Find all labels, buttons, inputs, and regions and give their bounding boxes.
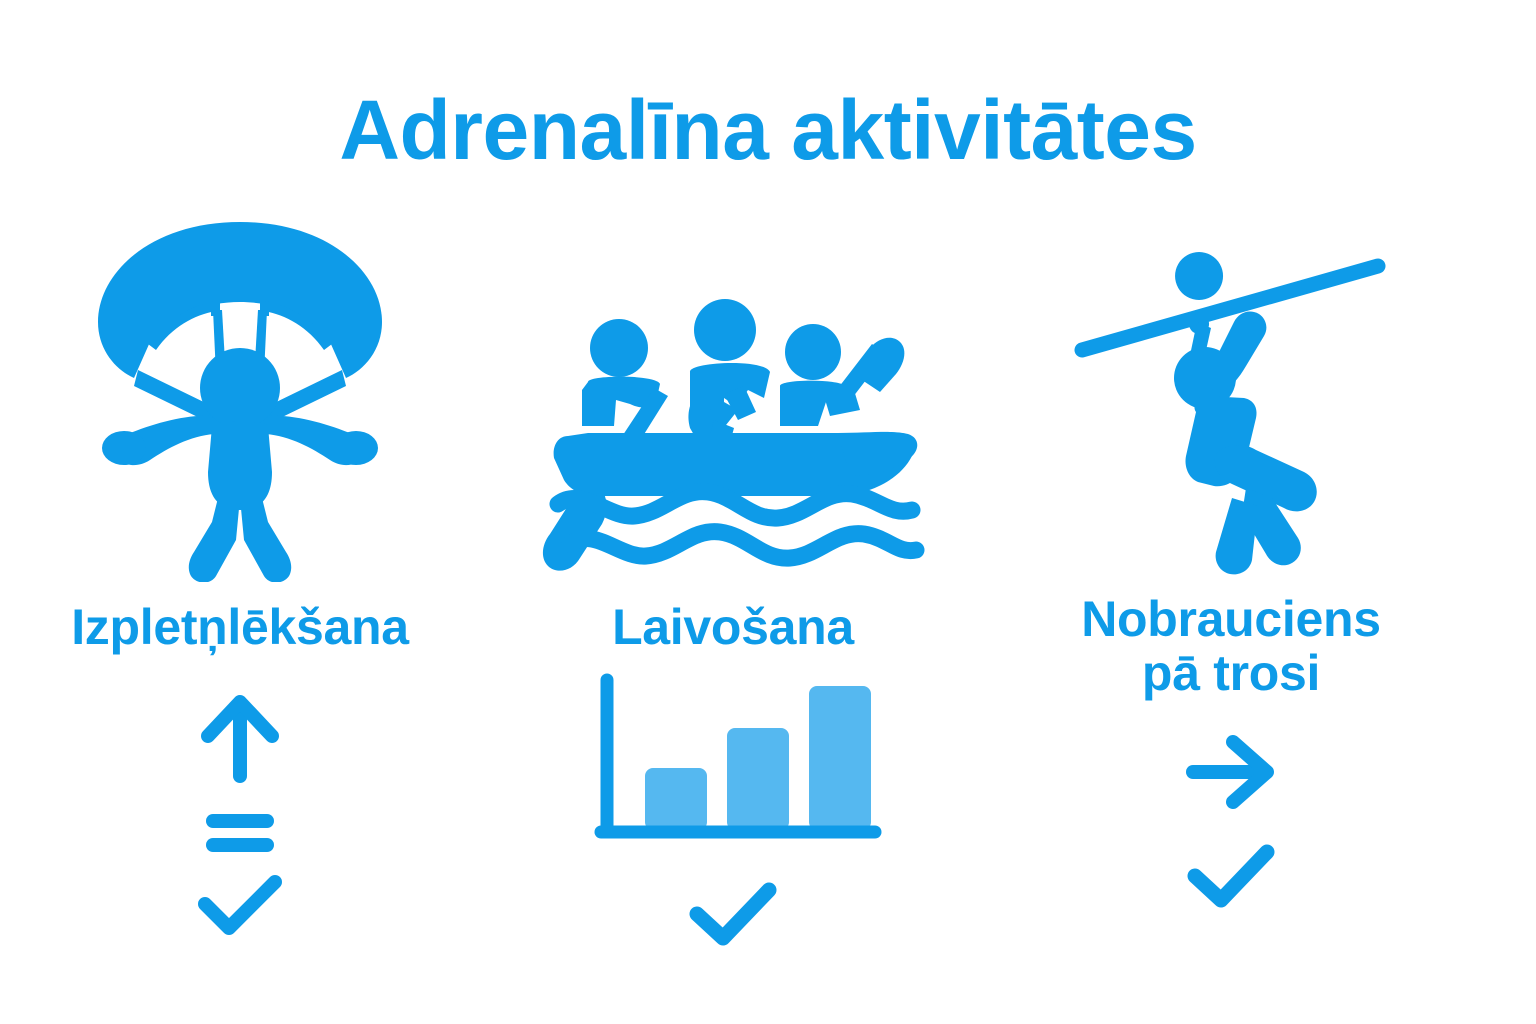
sub-icons-rafting xyxy=(508,672,958,946)
caption-zipline-line2: pā trosi xyxy=(1142,645,1320,701)
caption-zipline: Nobrauciens pā trosi xyxy=(986,592,1476,700)
zipline-rider-icon xyxy=(986,228,1476,578)
activity-column-rafting: Laivošana xyxy=(508,210,958,1000)
page-title: Adrenalīna aktivitātes xyxy=(0,88,1536,172)
up-arrow-icon xyxy=(197,690,283,784)
bar-chart-icon xyxy=(583,672,883,852)
activity-columns: Izpletņlēkšana xyxy=(0,210,1536,1000)
caption-rafting: Laivošana xyxy=(508,600,958,654)
check-icon xyxy=(195,874,285,936)
raft-with-paddlers-icon xyxy=(508,280,958,580)
poster-canvas: Adrenalīna aktivitātes xyxy=(0,0,1536,1024)
sub-icons-parachuting xyxy=(0,690,480,936)
caption-zipline-line1: Nobrauciens xyxy=(1081,591,1381,647)
sub-icons-zipline xyxy=(986,730,1476,908)
check-icon xyxy=(1185,844,1277,908)
right-arrow-icon xyxy=(1181,730,1281,814)
parachute-skydiver-icon xyxy=(0,210,480,582)
check-icon xyxy=(687,882,779,946)
activity-column-zipline: Nobrauciens pā trosi xyxy=(986,210,1476,1000)
activity-column-parachuting: Izpletņlēkšana xyxy=(0,210,480,1000)
caption-parachuting: Izpletņlēkšana xyxy=(0,600,480,654)
equals-icon xyxy=(204,810,276,856)
